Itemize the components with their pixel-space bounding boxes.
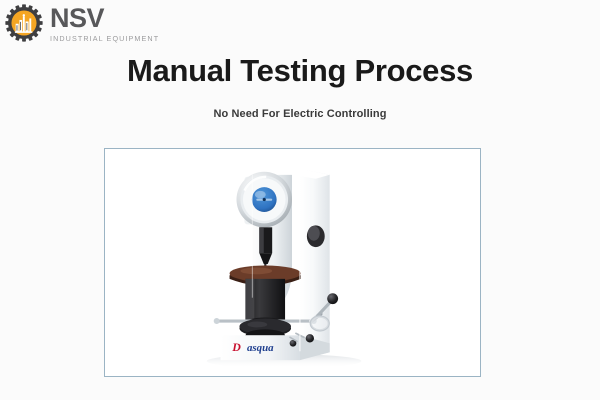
image-panel: Bench-top manual Rockwell hardness testi…: [104, 148, 481, 377]
gear-factory-icon: [4, 4, 44, 42]
brand-header: NSV INDUSTRIAL EQUIPMENT: [4, 4, 159, 42]
rockwell-hardness-tester-photo: asqua D: [105, 149, 480, 376]
brand-name: NSV: [50, 5, 159, 32]
svg-text:asqua: asqua: [247, 342, 274, 354]
page-subtitle: No Need For Electric Controlling: [0, 108, 600, 120]
page-title: Manual Testing Process: [0, 53, 600, 89]
svg-text:D: D: [231, 340, 241, 354]
brand-tagline: INDUSTRIAL EQUIPMENT: [50, 35, 159, 42]
brand-wordmark: NSV INDUSTRIAL EQUIPMENT: [50, 4, 159, 42]
machine-brand-label: asqua D: [231, 340, 274, 354]
